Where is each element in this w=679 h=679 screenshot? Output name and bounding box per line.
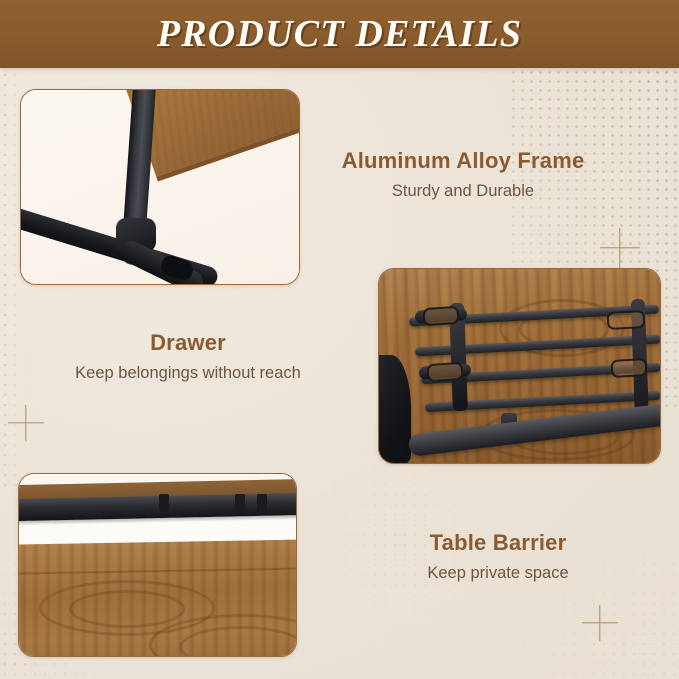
- caption-aluminum-alloy-frame: Aluminum Alloy Frame Sturdy and Durable: [318, 148, 608, 202]
- bracket-slot: [422, 306, 459, 326]
- bracket-slot: [426, 362, 463, 382]
- photo-aluminum-leg-content: [21, 90, 299, 284]
- caption-title: Drawer: [38, 330, 338, 356]
- bracket-slot: [611, 358, 648, 378]
- caption-subtitle: Keep private space: [348, 564, 648, 584]
- rail-bracket: [235, 494, 245, 512]
- rail-bracket: [159, 494, 169, 512]
- caption-title: Table Barrier: [348, 530, 648, 556]
- photo-drawer-wood: [18, 473, 297, 657]
- caption-subtitle: Sturdy and Durable: [318, 182, 608, 202]
- page-title: PRODUCT DETAILS: [157, 12, 522, 56]
- photo-drawer-wood-content: [19, 474, 296, 656]
- photo-aluminum-leg: [20, 89, 300, 285]
- photo-barrier-rails-content: [379, 269, 660, 463]
- caption-subtitle: Keep belongings without reach: [38, 364, 338, 384]
- caption-table-barrier: Table Barrier Keep private space: [348, 530, 648, 584]
- caption-drawer: Drawer Keep belongings without reach: [38, 330, 338, 384]
- bracket-slot: [607, 310, 646, 330]
- photo-barrier-rails: [378, 268, 661, 464]
- product-details-infographic: PRODUCT DETAILS Aluminum Alloy Frame Stu…: [0, 0, 679, 679]
- rail-bracket: [257, 494, 267, 512]
- header-banner: PRODUCT DETAILS: [0, 0, 679, 68]
- wood-knot: [69, 590, 185, 628]
- caption-title: Aluminum Alloy Frame: [318, 148, 608, 174]
